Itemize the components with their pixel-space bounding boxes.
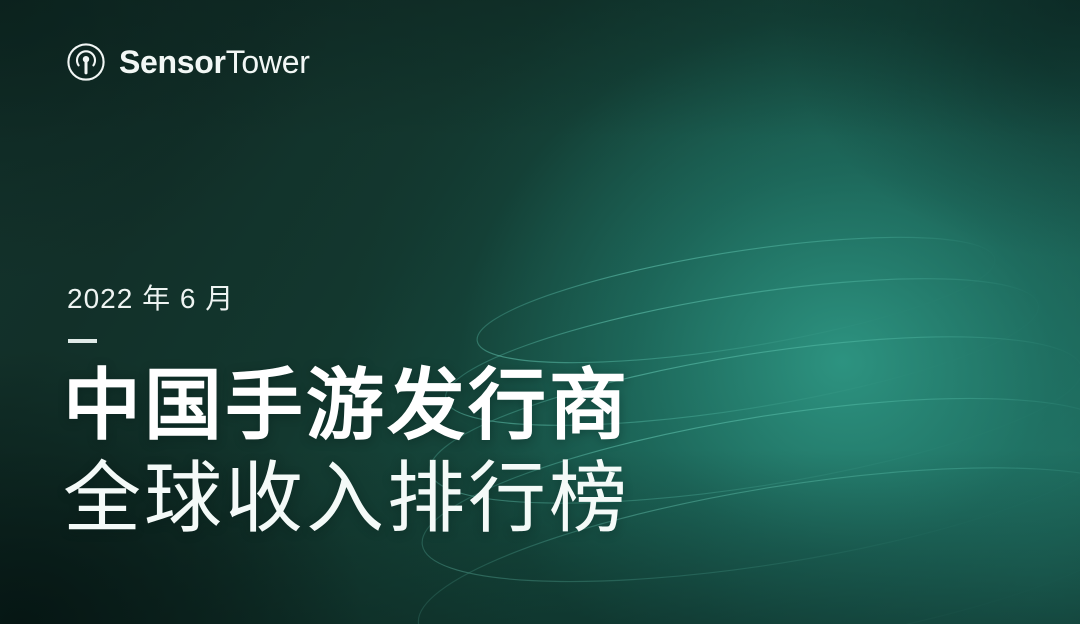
sensor-tower-signal-icon bbox=[66, 42, 106, 82]
poster-canvas: SensorTower 2022 年 6 月 中国手游发行商 全球收入排行榜 bbox=[0, 0, 1080, 624]
title-divider-rule bbox=[68, 339, 97, 343]
page-title-line-2: 全球收入排行榜 bbox=[63, 459, 630, 537]
brand-name-light: Tower bbox=[226, 44, 310, 80]
brand-logo[interactable]: SensorTower bbox=[66, 42, 310, 82]
brand-name-bold: Sensor bbox=[119, 44, 226, 80]
brand-name: SensorTower bbox=[119, 46, 310, 78]
page-title-line-1: 中国手游发行商 bbox=[63, 366, 630, 444]
poster-content: SensorTower 2022 年 6 月 中国手游发行商 全球收入排行榜 bbox=[0, 0, 1080, 624]
issue-date: 2022 年 6 月 bbox=[67, 285, 234, 313]
